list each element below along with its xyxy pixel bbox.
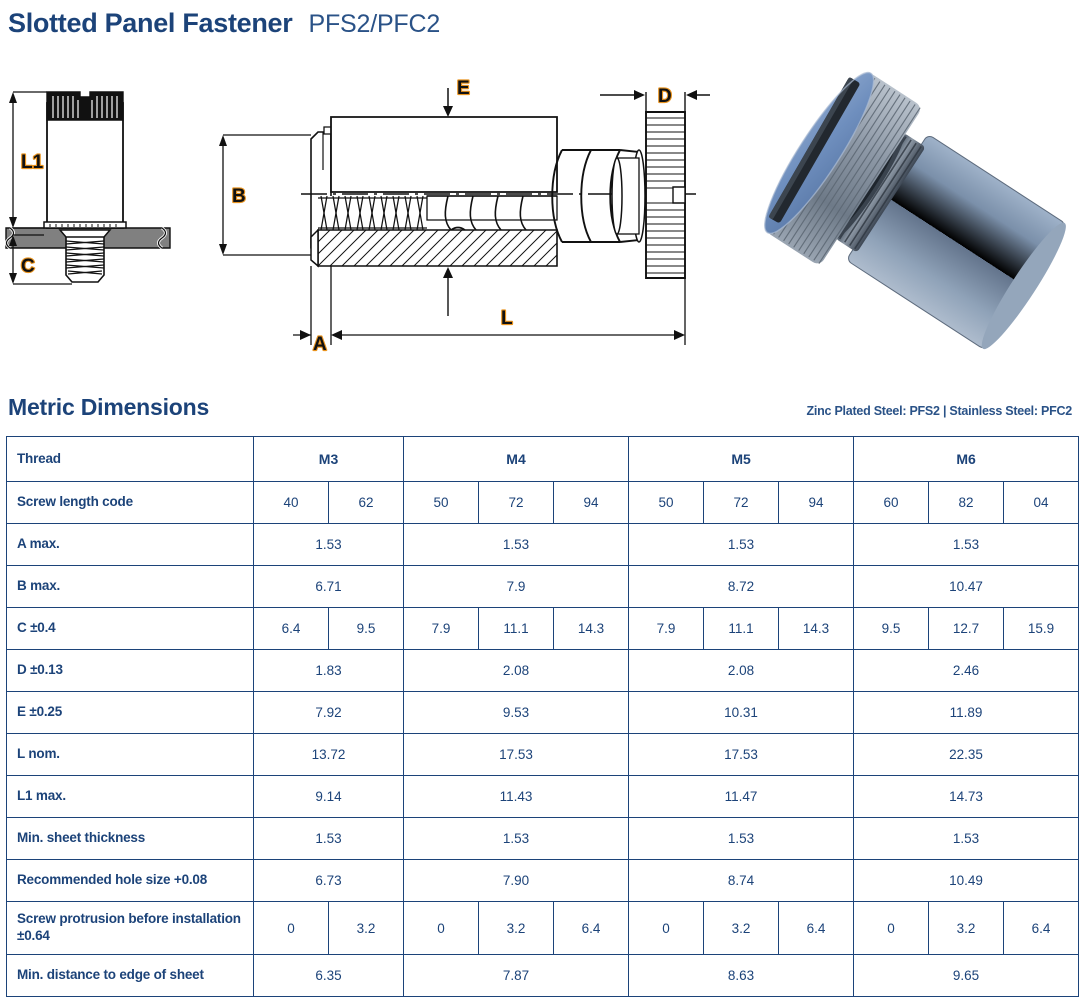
screw-length-code-cell: 50 xyxy=(404,482,479,524)
thread-group-header: M4 xyxy=(404,437,629,482)
data-cell: 2.46 xyxy=(854,650,1079,692)
data-cell: 9.65 xyxy=(854,955,1079,997)
page-title-main: Slotted Panel Fastener xyxy=(8,8,292,39)
data-cell: 7.9 xyxy=(404,566,629,608)
table-row: L1 max.9.1411.4311.4714.73 xyxy=(7,776,1079,818)
row-label: Recommended hole size +0.08 xyxy=(7,860,254,902)
knurl-cap xyxy=(47,92,123,120)
table-row: A max.1.531.531.531.53 xyxy=(7,524,1079,566)
data-cell: 2.08 xyxy=(629,650,854,692)
table-row: B max.6.717.98.7210.47 xyxy=(7,566,1079,608)
data-cell: 11.89 xyxy=(854,692,1079,734)
header-screw-length-code-label: Screw length code xyxy=(7,482,254,524)
screw-length-code-cell: 50 xyxy=(629,482,704,524)
row-label: L nom. xyxy=(7,734,254,776)
header-thread-label: Thread xyxy=(7,437,254,482)
table-row: D ±0.131.832.082.082.46 xyxy=(7,650,1079,692)
table-row: Min. sheet thickness1.531.531.531.53 xyxy=(7,818,1079,860)
dim-label-L: L xyxy=(501,308,513,329)
data-cell: 1.53 xyxy=(629,524,854,566)
data-cell: 17.53 xyxy=(629,734,854,776)
data-cell: 9.53 xyxy=(404,692,629,734)
row-label: A max. xyxy=(7,524,254,566)
row-label: Min. distance to edge of sheet xyxy=(7,955,254,997)
table-row: Screw protrusion before installation ±0.… xyxy=(7,902,1079,955)
row-label: B max. xyxy=(7,566,254,608)
data-cell: 10.49 xyxy=(854,860,1079,902)
row-label: D ±0.13 xyxy=(7,650,254,692)
row-label: E ±0.25 xyxy=(7,692,254,734)
page-title-part-codes: PFS2/PFC2 xyxy=(308,10,440,39)
data-cell: 8.72 xyxy=(629,566,854,608)
metric-dimensions-table: Thread M3M4M5M6 Screw length code 406250… xyxy=(6,436,1079,997)
data-cell: 0 xyxy=(854,902,929,955)
data-cell: 7.9 xyxy=(404,608,479,650)
data-cell: 22.35 xyxy=(854,734,1079,776)
data-cell: 1.53 xyxy=(854,524,1079,566)
row-label: C ±0.4 xyxy=(7,608,254,650)
data-cell: 1.53 xyxy=(629,818,854,860)
data-cell: 6.73 xyxy=(254,860,404,902)
data-cell: 11.1 xyxy=(479,608,554,650)
data-cell: 1.53 xyxy=(254,524,404,566)
screw-length-code-cell: 82 xyxy=(929,482,1004,524)
page-title: Slotted Panel Fastener PFS2/PFC2 xyxy=(8,8,440,39)
data-cell: 6.4 xyxy=(554,902,629,955)
data-cell: 7.87 xyxy=(404,955,629,997)
data-cell: 3.2 xyxy=(704,902,779,955)
table-row: L nom.13.7217.5317.5322.35 xyxy=(7,734,1079,776)
dim-label-C: C xyxy=(21,256,35,277)
screw-length-code-cell: 94 xyxy=(779,482,854,524)
data-cell: 14.3 xyxy=(554,608,629,650)
row-label: Min. sheet thickness xyxy=(7,818,254,860)
data-cell: 8.74 xyxy=(629,860,854,902)
data-cell: 6.35 xyxy=(254,955,404,997)
dim-label-A: A xyxy=(313,334,327,355)
data-cell: 6.71 xyxy=(254,566,404,608)
data-cell: 9.5 xyxy=(329,608,404,650)
data-cell: 6.4 xyxy=(254,608,329,650)
figure-product-photo xyxy=(780,65,1080,365)
data-cell: 6.4 xyxy=(1004,902,1079,955)
data-cell: 2.08 xyxy=(404,650,629,692)
screw-length-code-cell: 60 xyxy=(854,482,929,524)
table-row: Recommended hole size +0.086.737.908.741… xyxy=(7,860,1079,902)
table-row: Min. distance to edge of sheet6.357.878.… xyxy=(7,955,1079,997)
data-cell: 1.53 xyxy=(854,818,1079,860)
thread-group-header: M3 xyxy=(254,437,404,482)
data-cell: 0 xyxy=(254,902,329,955)
screw-length-code-cell: 40 xyxy=(254,482,329,524)
row-label: L1 max. xyxy=(7,776,254,818)
screw-length-code-cell: 72 xyxy=(704,482,779,524)
screw-length-code-cell: 72 xyxy=(479,482,554,524)
table-header-row-thread: Thread M3M4M5M6 xyxy=(7,437,1079,482)
data-cell: 12.7 xyxy=(929,608,1004,650)
data-cell: 14.3 xyxy=(779,608,854,650)
data-cell: 10.31 xyxy=(629,692,854,734)
dim-label-B: B xyxy=(232,186,246,207)
data-cell: 11.47 xyxy=(629,776,854,818)
screw-length-code-cell: 94 xyxy=(554,482,629,524)
screw-length-code-cell: 62 xyxy=(329,482,404,524)
data-cell: 9.5 xyxy=(854,608,929,650)
data-cell: 9.14 xyxy=(254,776,404,818)
table-body: A max.1.531.531.531.53B max.6.717.98.721… xyxy=(7,524,1079,997)
row-label: Screw protrusion before installation ±0.… xyxy=(7,902,254,955)
data-cell: 3.2 xyxy=(929,902,1004,955)
data-cell: 10.47 xyxy=(854,566,1079,608)
data-cell: 7.90 xyxy=(404,860,629,902)
dim-label-D: D xyxy=(658,86,672,107)
data-cell: 15.9 xyxy=(1004,608,1079,650)
data-cell: 1.53 xyxy=(404,524,629,566)
data-cell: 0 xyxy=(404,902,479,955)
thread-group-header: M5 xyxy=(629,437,854,482)
screw-length-code-cell: 04 xyxy=(1004,482,1079,524)
table-head: Thread M3M4M5M6 Screw length code 406250… xyxy=(7,437,1079,524)
section-heading: Metric Dimensions xyxy=(8,394,209,421)
thread-group-header: M6 xyxy=(854,437,1079,482)
section-material-note: Zinc Plated Steel: PFS2 | Stainless Stee… xyxy=(807,404,1072,418)
figures-band: L1 C xyxy=(0,60,1086,380)
data-cell: 6.4 xyxy=(779,902,854,955)
data-cell: 0 xyxy=(629,902,704,955)
table-row: C ±0.46.49.57.911.114.37.911.114.39.512.… xyxy=(7,608,1079,650)
figure-installed-side-view: L1 C xyxy=(0,70,200,370)
data-cell: 3.2 xyxy=(479,902,554,955)
data-cell: 7.92 xyxy=(254,692,404,734)
data-cell: 14.73 xyxy=(854,776,1079,818)
data-cell: 8.63 xyxy=(629,955,854,997)
data-cell: 3.2 xyxy=(329,902,404,955)
dim-label-E: E xyxy=(457,78,470,99)
table-header-row-screw-length-code: Screw length code 4062507294507294608204 xyxy=(7,482,1079,524)
knurled-head xyxy=(646,112,685,278)
data-cell: 1.53 xyxy=(404,818,629,860)
data-cell: 17.53 xyxy=(404,734,629,776)
data-cell: 1.83 xyxy=(254,650,404,692)
figure-cross-section: E D B A L xyxy=(205,70,710,370)
data-cell: 7.9 xyxy=(629,608,704,650)
dim-label-L1: L1 xyxy=(21,152,44,173)
data-cell: 11.43 xyxy=(404,776,629,818)
table-row: E ±0.257.929.5310.3111.89 xyxy=(7,692,1079,734)
data-cell: 13.72 xyxy=(254,734,404,776)
data-cell: 11.1 xyxy=(704,608,779,650)
data-cell: 1.53 xyxy=(254,818,404,860)
